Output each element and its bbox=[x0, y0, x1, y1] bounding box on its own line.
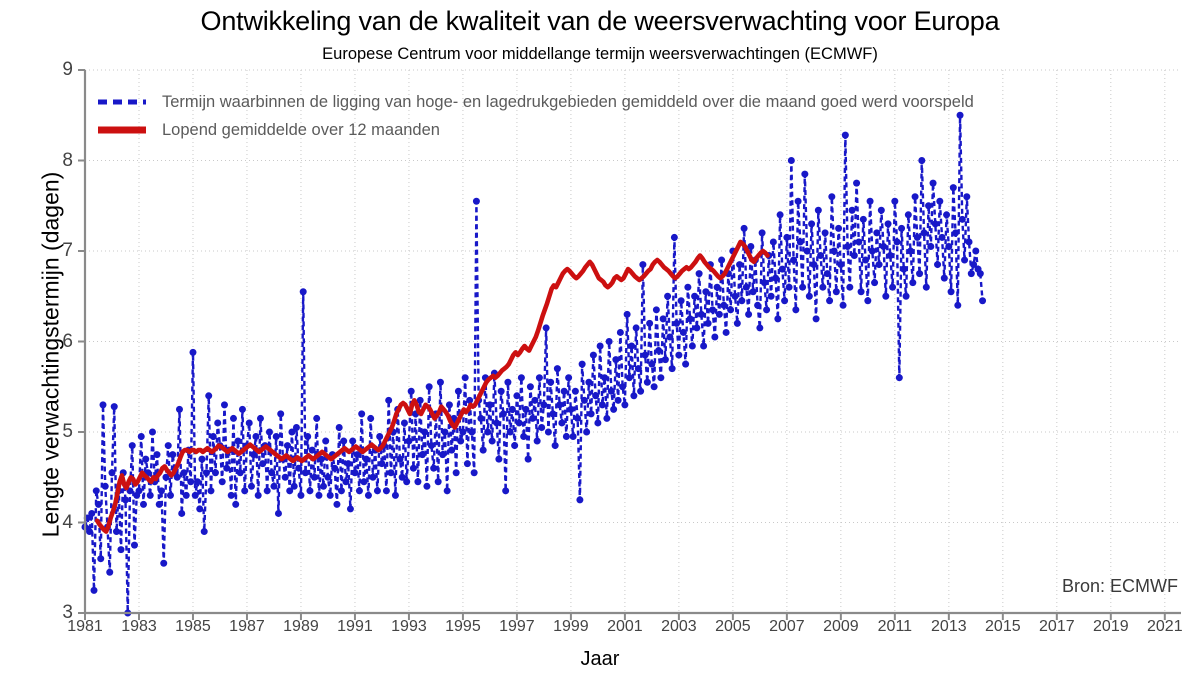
y-tick-label: 7 bbox=[13, 240, 73, 262]
x-axis-label: Jaar bbox=[0, 648, 1200, 671]
x-tick-label: 2021 bbox=[1125, 618, 1200, 636]
legend-label-running-mean: Lopend gemiddelde over 12 maanden bbox=[162, 121, 440, 140]
series-monthly bbox=[82, 112, 987, 617]
y-tick-label: 4 bbox=[13, 512, 73, 534]
y-tick-label: 9 bbox=[13, 59, 73, 81]
legend-swatch-solid-icon bbox=[96, 122, 148, 138]
chart-figure: Ontwikkeling van de kwaliteit van de wee… bbox=[0, 0, 1200, 683]
chart-legend: Termijn waarbinnen de ligging van hoge- … bbox=[96, 88, 1176, 144]
legend-item-monthly: Termijn waarbinnen de ligging van hoge- … bbox=[96, 88, 1176, 116]
legend-label-monthly: Termijn waarbinnen de ligging van hoge- … bbox=[162, 93, 974, 112]
legend-swatch-dashed-icon bbox=[96, 94, 148, 110]
legend-item-running-mean: Lopend gemiddelde over 12 maanden bbox=[96, 116, 1176, 144]
y-tick-label: 6 bbox=[13, 331, 73, 353]
chart-title: Ontwikkeling van de kwaliteit van de wee… bbox=[0, 6, 1200, 37]
gridlines bbox=[85, 70, 1181, 613]
y-tick-label: 8 bbox=[13, 150, 73, 172]
source-annotation: Bron: ECMWF bbox=[1062, 576, 1178, 597]
chart-subtitle: Europese Centrum voor middellange termij… bbox=[0, 45, 1200, 64]
y-tick-label: 5 bbox=[13, 421, 73, 443]
